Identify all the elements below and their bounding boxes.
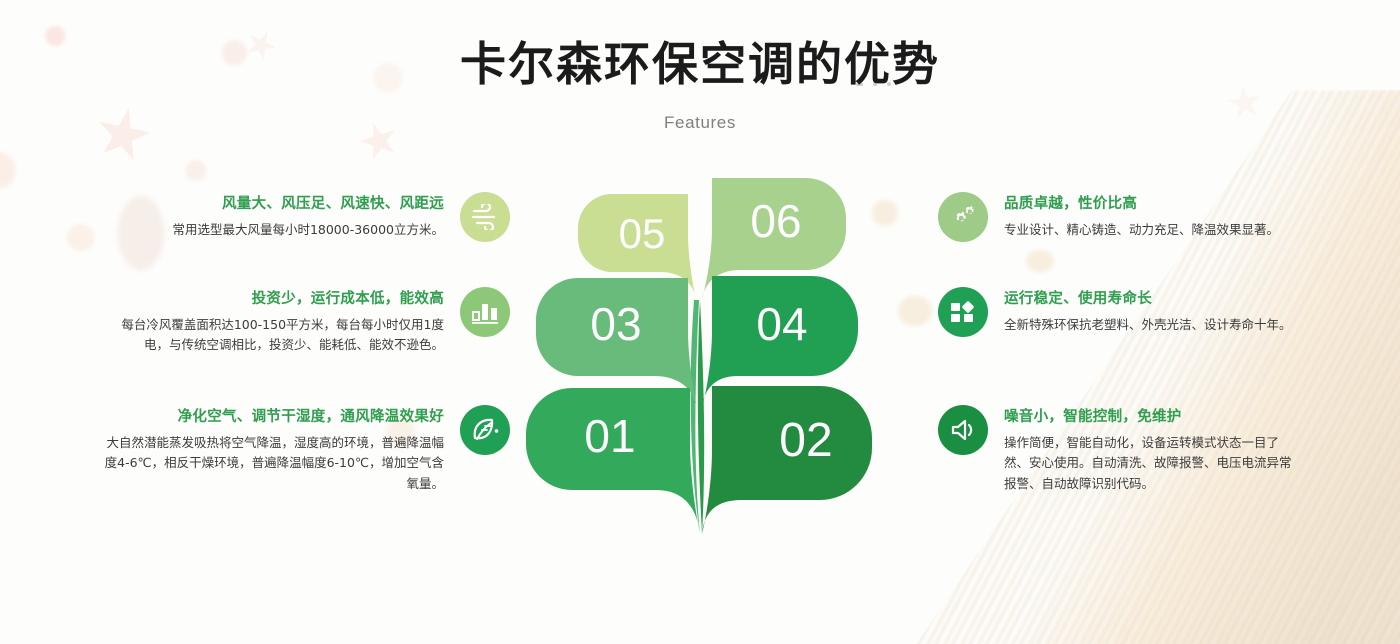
speaker-icon-glyph: [949, 417, 977, 443]
bar-chart-icon: [460, 287, 510, 337]
grid-diamond-icon-glyph: [949, 299, 977, 325]
feature-item-01[interactable]: 净化空气、调节干湿度，通风降温效果好 大自然潜能蒸发吸热将空气降温，湿度高的环境…: [95, 405, 510, 494]
leaf-icon: [460, 405, 510, 455]
leaf-01[interactable]: 01: [526, 388, 699, 530]
bar-chart-icon-glyph: [471, 299, 499, 325]
feature-description: 常用选型最大风量每小时18000-36000立方米。: [110, 220, 444, 240]
feature-description: 操作简便，智能自动化，设备运转模式状态一目了然、安心使用。自动清洗、故障报警、电…: [1004, 433, 1303, 494]
page-subtitle: Features: [0, 113, 1400, 133]
gears-icon-glyph: [948, 203, 978, 231]
wind-icon: [460, 192, 510, 242]
grid-diamond-icon: [938, 287, 988, 337]
infographic-page: 卡尔森环保空调的优势 Features 05 06 03 04: [0, 0, 1400, 644]
feature-title: 投资少，运行成本低，能效高: [100, 287, 444, 308]
feature-item-04[interactable]: 运行稳定、使用寿命长 全新特殊环保抗老塑料、外壳光洁、设计寿命十年。: [938, 287, 1338, 337]
feature-item-05[interactable]: 风量大、风压足、风速快、风距远 常用选型最大风量每小时18000-36000立方…: [110, 192, 510, 242]
feature-description: 每台冷风覆盖面积达100-150平方米，每台每小时仅用1度电，与传统空调相比，投…: [100, 315, 444, 356]
feature-title: 噪音小，智能控制，免维护: [1004, 405, 1303, 426]
gears-icon: [938, 192, 988, 242]
wind-icon-glyph: [470, 204, 500, 230]
feature-title: 运行稳定、使用寿命长: [1004, 287, 1338, 308]
plant-stem: [698, 300, 704, 534]
feature-description: 大自然潜能蒸发吸热将空气降温，湿度高的环境，普遍降温幅度4-6℃，相反干燥环境，…: [95, 433, 444, 494]
feature-title: 品质卓越，性价比高: [1004, 192, 1338, 213]
leaf-number-01: 01: [584, 410, 635, 462]
leaf-number-06: 06: [750, 195, 801, 247]
leaf-number-05: 05: [619, 210, 666, 257]
feature-description: 全新特殊环保抗老塑料、外壳光洁、设计寿命十年。: [1004, 315, 1338, 335]
leaf-number-04: 04: [756, 298, 807, 350]
feature-title: 净化空气、调节干湿度，通风降温效果好: [95, 405, 444, 426]
feature-title: 风量大、风压足、风速快、风距远: [110, 192, 444, 213]
feature-item-03[interactable]: 投资少，运行成本低，能效高 每台冷风覆盖面积达100-150平方米，每台每小时仅…: [100, 287, 510, 356]
leaf-number-02: 02: [779, 414, 832, 467]
leaf-02[interactable]: 02: [702, 386, 872, 534]
feature-description: 专业设计、精心铸造、动力充足、降温效果显著。: [1004, 220, 1338, 240]
page-title: 卡尔森环保空调的优势: [0, 38, 1400, 91]
feature-item-06[interactable]: 品质卓越，性价比高 专业设计、精心铸造、动力充足、降温效果显著。: [938, 192, 1338, 242]
feature-item-02[interactable]: 噪音小，智能控制，免维护 操作简便，智能自动化，设备运转模式状态一目了然、安心使…: [938, 405, 1303, 494]
page-header: 卡尔森环保空调的优势 Features: [0, 38, 1400, 133]
leaf-number-03: 03: [590, 298, 641, 350]
speaker-icon: [938, 405, 988, 455]
leaf-icon-glyph: [470, 416, 500, 444]
